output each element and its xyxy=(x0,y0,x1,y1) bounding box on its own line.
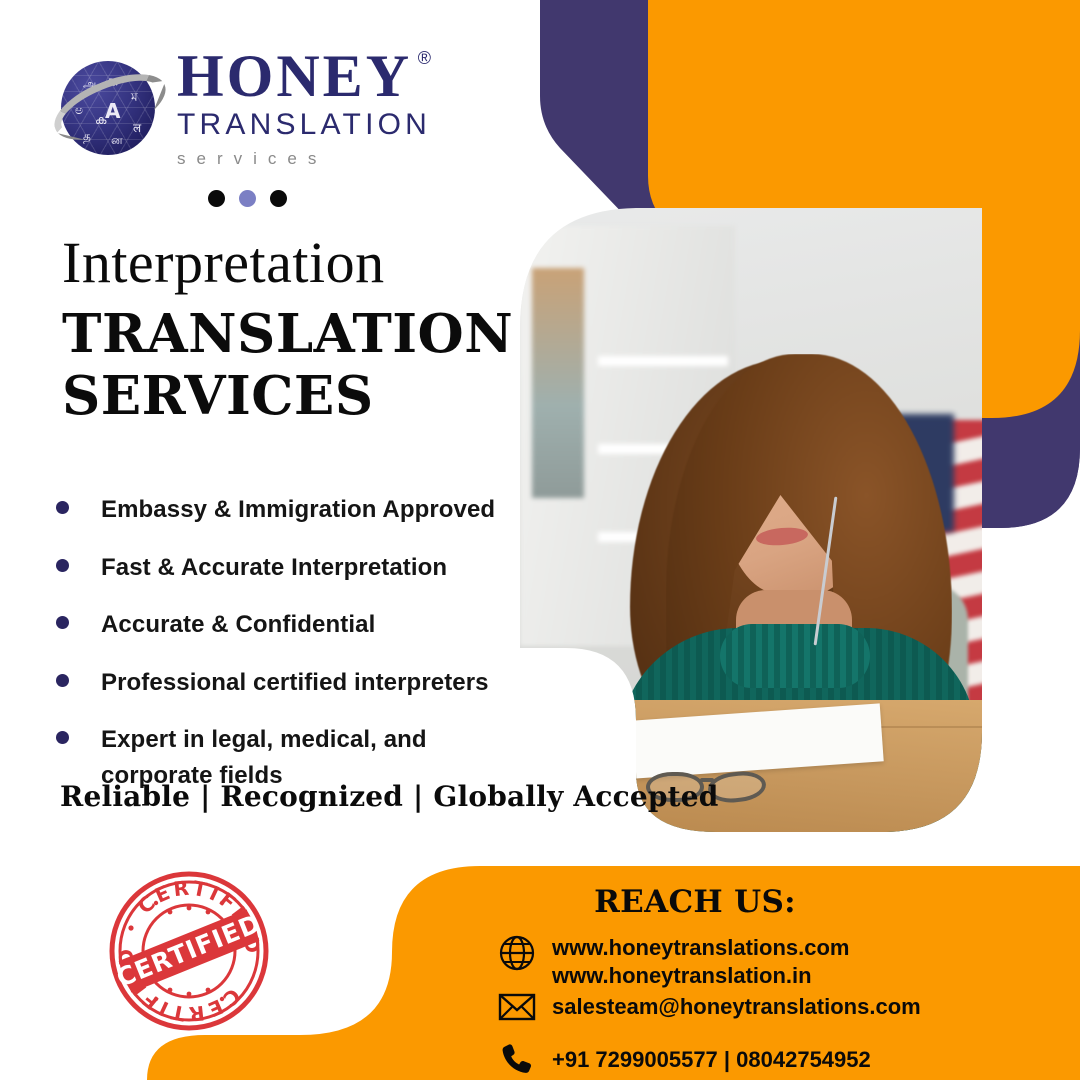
bullet-icon xyxy=(56,616,69,629)
list-item-label: Embassy & Immigration Approved xyxy=(101,492,495,528)
list-item-label: Fast & Accurate Interpretation xyxy=(101,550,447,586)
bullet-icon xyxy=(56,674,69,687)
headline-script: Interpretation xyxy=(62,232,532,295)
bullet-icon xyxy=(56,501,69,514)
globe-icon xyxy=(496,934,538,972)
company-logo[interactable]: அ क A ಅ த ன ल ম ക HONEY ® TRANSLATION se… xyxy=(55,45,475,175)
globe-char-6: ल xyxy=(133,119,141,136)
certified-stamp-icon: CERTIFIED CERTIFIED CERTIFIED xyxy=(106,868,272,1034)
registered-trademark-icon: ® xyxy=(418,49,434,68)
dot-3 xyxy=(270,190,287,207)
hero-photo xyxy=(520,208,982,832)
globe-char-5: ன xyxy=(111,133,123,149)
headline-bold-line-2: SERVICES xyxy=(62,363,532,429)
contact-row-phone[interactable]: +91 7299005577 | 08042754952 xyxy=(496,1042,871,1078)
website-url-1[interactable]: www.honeytranslations.com xyxy=(552,935,849,960)
dot-1 xyxy=(208,190,225,207)
page-title: Interpretation TRANSLATION SERVICES xyxy=(62,232,532,429)
logo-wordmark-tertiary: services xyxy=(177,149,477,169)
tagline: Reliable | Recognized | Globally Accepte… xyxy=(60,780,719,813)
dot-2 xyxy=(239,190,256,207)
website-urls[interactable]: www.honeytranslations.com www.honeytrans… xyxy=(552,934,849,990)
phone-numbers[interactable]: +91 7299005577 | 08042754952 xyxy=(552,1046,871,1074)
contact-heading: REACH US: xyxy=(390,884,1080,920)
globe-char-8: ക xyxy=(95,113,106,128)
dot-separator xyxy=(208,190,287,207)
list-item: Embassy & Immigration Approved xyxy=(56,492,526,528)
contact-row-website[interactable]: www.honeytranslations.com www.honeytrans… xyxy=(496,934,849,990)
globe-char-2: A xyxy=(105,99,120,123)
list-item: Fast & Accurate Interpretation xyxy=(56,550,526,586)
globe-char-4: த xyxy=(83,129,91,145)
logo-wordmark-secondary: TRANSLATION xyxy=(177,106,477,144)
logo-primary-text: HONEY xyxy=(177,43,412,109)
list-item: Professional certified interpreters xyxy=(56,665,526,701)
globe-icon: அ क A ಅ த ன ल ম ക xyxy=(55,53,165,163)
poster-canvas: அ क A ಅ த ன ल ম ക HONEY ® TRANSLATION se… xyxy=(0,0,1080,1080)
globe-char-7: ম xyxy=(131,89,138,109)
contact-row-email[interactable]: salesteam@honeytranslations.com xyxy=(496,992,921,1022)
list-item: Accurate & Confidential xyxy=(56,607,526,643)
bullet-icon xyxy=(56,559,69,572)
bullet-icon xyxy=(56,731,69,744)
headline-bold-line-1: TRANSLATION xyxy=(62,301,532,367)
list-item-label: Professional certified interpreters xyxy=(101,665,489,701)
phone-icon xyxy=(496,1042,538,1078)
list-item-label: Accurate & Confidential xyxy=(101,607,375,643)
envelope-icon xyxy=(496,992,538,1022)
feature-list: Embassy & Immigration Approved Fast & Ac… xyxy=(56,492,526,815)
website-url-2[interactable]: www.honeytranslation.in xyxy=(552,963,812,988)
email-address[interactable]: salesteam@honeytranslations.com xyxy=(552,993,921,1021)
logo-wordmark-primary: HONEY ® xyxy=(177,45,412,108)
contact-block: REACH US: www.honeytranslations.com www.… xyxy=(390,866,1080,1080)
